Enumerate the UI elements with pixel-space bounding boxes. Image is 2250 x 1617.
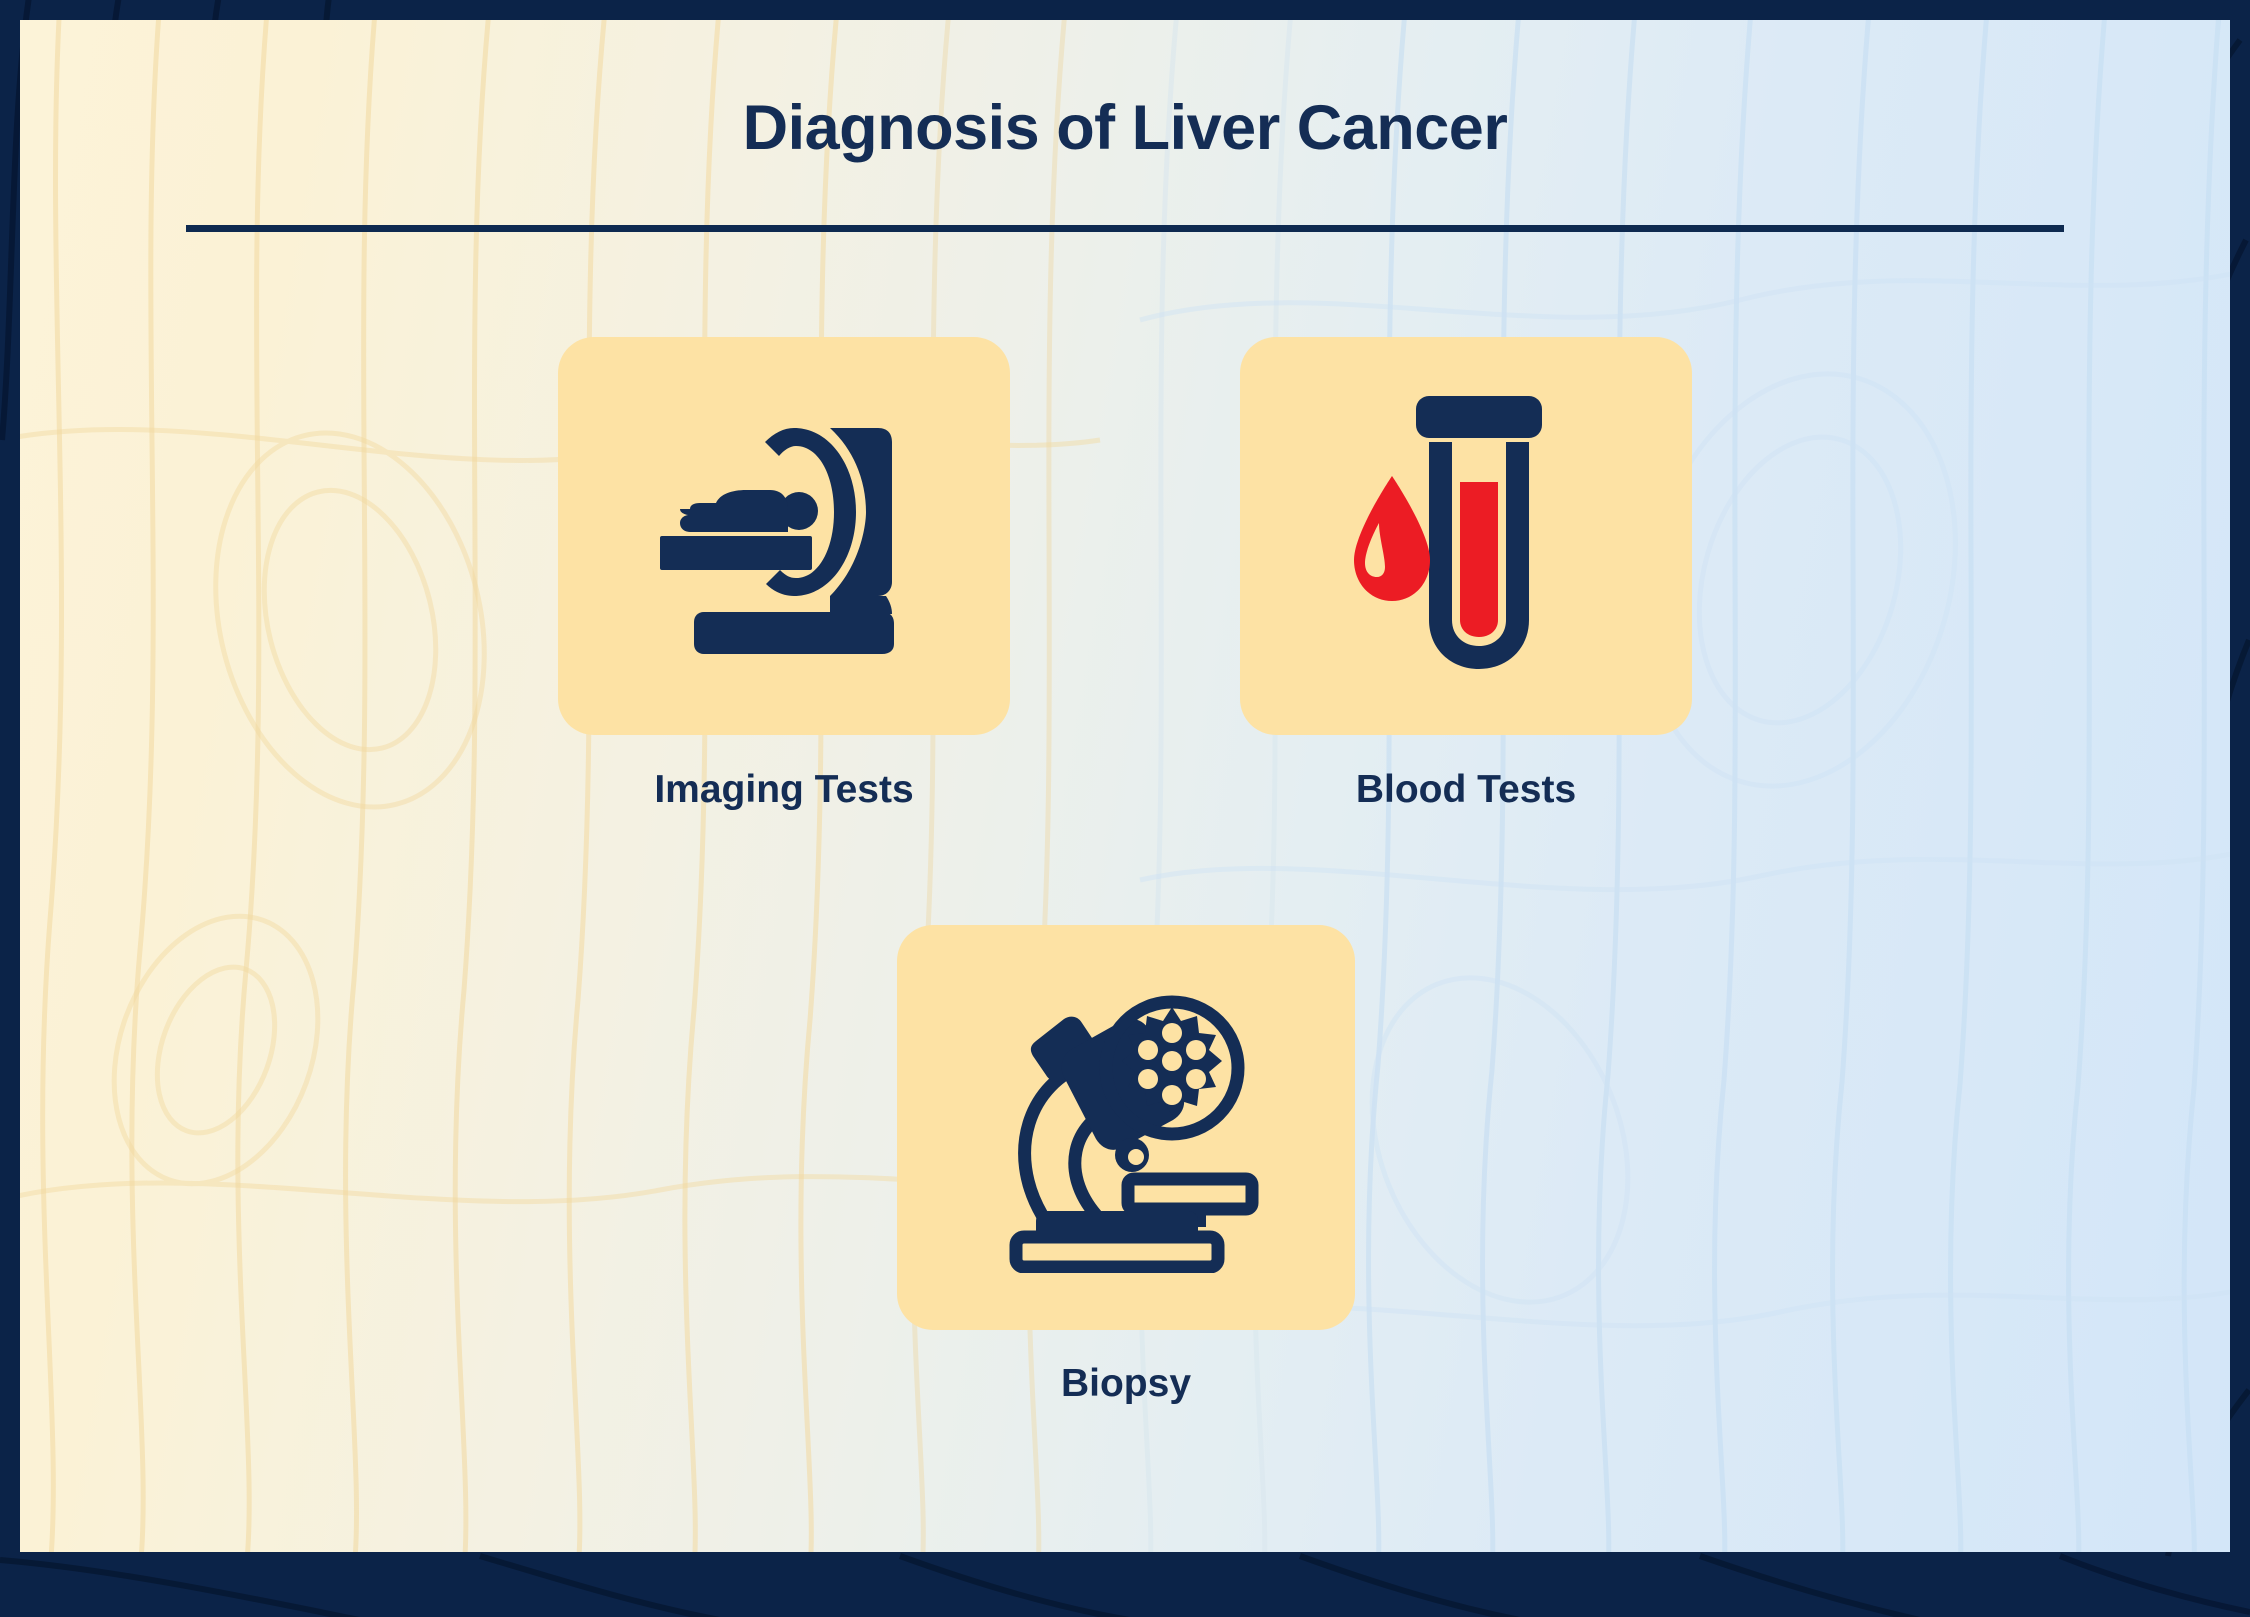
title-divider-rule	[186, 225, 2064, 232]
slide-frame: Diagnosis of Liver Cancer	[0, 0, 2250, 1617]
card-label-imaging-tests: Imaging Tests	[458, 768, 1110, 812]
mri-ct-scanner-icon	[634, 406, 934, 666]
page-title: Diagnosis of Liver Cancer	[20, 92, 2230, 164]
blood-test-tube-icon	[1336, 386, 1596, 686]
card-label-biopsy: Biopsy	[800, 1362, 1452, 1406]
content-panel: Diagnosis of Liver Cancer	[20, 20, 2230, 1552]
card-biopsy[interactable]	[897, 925, 1355, 1330]
card-blood-tests[interactable]	[1240, 337, 1692, 735]
card-label-blood-tests: Blood Tests	[1140, 768, 1792, 812]
card-imaging-tests[interactable]	[558, 337, 1010, 735]
microscope-icon	[976, 983, 1276, 1273]
